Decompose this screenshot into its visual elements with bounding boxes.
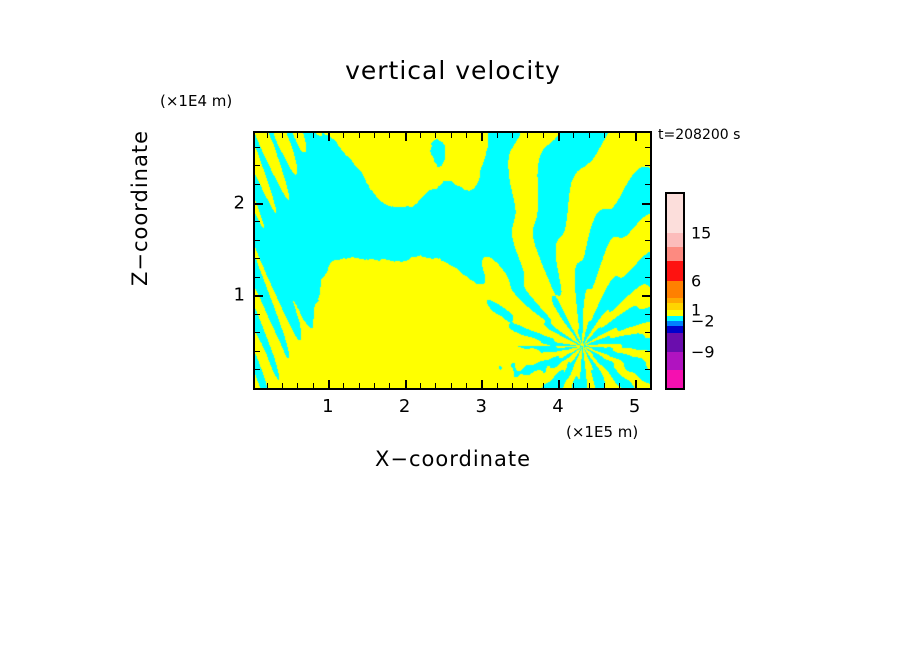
x-tick	[497, 383, 498, 388]
x-tick-label: 2	[399, 396, 410, 417]
colorbar-band	[667, 333, 683, 352]
colorbar-band	[667, 233, 683, 247]
y-tick	[255, 351, 260, 352]
y-tick	[255, 221, 260, 222]
x-tick	[619, 383, 620, 388]
y-tick-right	[645, 221, 650, 222]
colorbar-tick-label: −2	[691, 312, 715, 331]
y-tick	[255, 332, 260, 333]
y-tick	[255, 388, 260, 389]
x-tick-label: 1	[322, 396, 333, 417]
colorbar-tick-label: 15	[691, 223, 711, 242]
time-annotation: t=208200 s	[658, 127, 740, 143]
x-tick-top	[359, 133, 360, 138]
y-tick	[255, 277, 260, 278]
x-tick	[604, 383, 605, 388]
y-axis-unit-label: (×1E4 m)	[160, 92, 232, 110]
x-tick-top	[313, 133, 314, 138]
x-tick-label: 5	[629, 396, 640, 417]
y-tick	[255, 147, 260, 148]
x-tick	[389, 383, 390, 388]
contour-plot-area	[253, 131, 652, 390]
x-tick-top	[497, 133, 498, 138]
figure-canvas: vertical velocity (×1E4 m) t=208200 s 12…	[0, 0, 904, 654]
x-tick-top	[573, 133, 574, 138]
y-tick	[255, 295, 263, 297]
colorbar	[665, 192, 685, 390]
y-tick-right	[645, 240, 650, 241]
colorbar-tick-label: −9	[691, 343, 715, 362]
y-tick-right	[642, 295, 650, 297]
x-tick	[343, 383, 344, 388]
x-tick-top	[451, 133, 452, 138]
y-tick	[255, 258, 260, 259]
x-tick-top	[481, 133, 483, 141]
x-tick	[420, 383, 421, 388]
x-tick-top	[374, 133, 375, 138]
y-tick-right	[645, 388, 650, 389]
y-tick-right	[645, 332, 650, 333]
y-tick	[255, 369, 260, 370]
colorbar-tick-label: 6	[691, 272, 701, 291]
x-tick-label: 3	[476, 396, 487, 417]
x-tick	[328, 380, 330, 388]
page-title: vertical velocity	[253, 56, 653, 85]
x-tick	[313, 383, 314, 388]
x-tick-top	[619, 133, 620, 138]
y-tick-right	[645, 277, 650, 278]
x-tick-top	[650, 133, 651, 138]
y-axis-title: Z−coordinate	[128, 58, 152, 358]
colorbar-band	[667, 370, 683, 388]
x-tick	[543, 383, 544, 388]
x-tick-top	[512, 133, 513, 138]
x-tick-top	[589, 133, 590, 138]
x-tick	[512, 383, 513, 388]
x-tick	[297, 383, 298, 388]
x-tick	[451, 383, 452, 388]
x-tick	[558, 380, 560, 388]
x-tick	[466, 383, 467, 388]
colorbar-band	[667, 352, 683, 370]
y-tick	[255, 203, 263, 205]
x-tick-top	[635, 133, 637, 141]
x-tick	[589, 383, 590, 388]
x-tick	[527, 383, 528, 388]
x-tick	[650, 383, 651, 388]
x-tick-top	[604, 133, 605, 138]
y-tick	[255, 240, 260, 241]
x-tick	[359, 383, 360, 388]
y-tick-right	[645, 369, 650, 370]
x-tick	[435, 383, 436, 388]
x-tick	[405, 380, 407, 388]
colorbar-band	[667, 261, 683, 282]
x-tick-top	[405, 133, 407, 141]
x-tick-top	[420, 133, 421, 138]
x-tick-top	[558, 133, 560, 141]
x-tick-top	[466, 133, 467, 138]
x-tick	[267, 383, 268, 388]
y-tick-right	[645, 165, 650, 166]
x-tick-top	[527, 133, 528, 138]
x-tick	[374, 383, 375, 388]
y-tick	[255, 184, 260, 185]
x-tick	[481, 380, 483, 388]
colorbar-band	[667, 247, 683, 261]
y-tick-right	[642, 203, 650, 205]
y-tick-right	[645, 258, 650, 259]
x-tick-top	[543, 133, 544, 138]
x-tick	[282, 383, 283, 388]
x-axis-title: X−coordinate	[253, 447, 653, 471]
x-tick-top	[343, 133, 344, 138]
colorbar-band	[667, 194, 683, 233]
x-tick-top	[328, 133, 330, 141]
y-tick	[255, 165, 260, 166]
x-tick-top	[282, 133, 283, 138]
x-tick-label: 4	[552, 396, 563, 417]
y-tick-right	[645, 351, 650, 352]
x-tick-top	[435, 133, 436, 138]
y-tick-right	[645, 184, 650, 185]
vertical-velocity-field	[255, 133, 650, 388]
x-tick-top	[297, 133, 298, 138]
y-tick	[255, 314, 260, 315]
x-axis-unit-label: (×1E5 m)	[566, 423, 638, 441]
colorbar-band	[667, 281, 683, 298]
x-tick-top	[267, 133, 268, 138]
y-tick-right	[645, 314, 650, 315]
y-tick-right	[645, 147, 650, 148]
x-tick	[635, 380, 637, 388]
y-tick-label: 1	[227, 285, 245, 306]
y-tick-label: 2	[227, 192, 245, 213]
x-tick-top	[389, 133, 390, 138]
x-tick	[573, 383, 574, 388]
